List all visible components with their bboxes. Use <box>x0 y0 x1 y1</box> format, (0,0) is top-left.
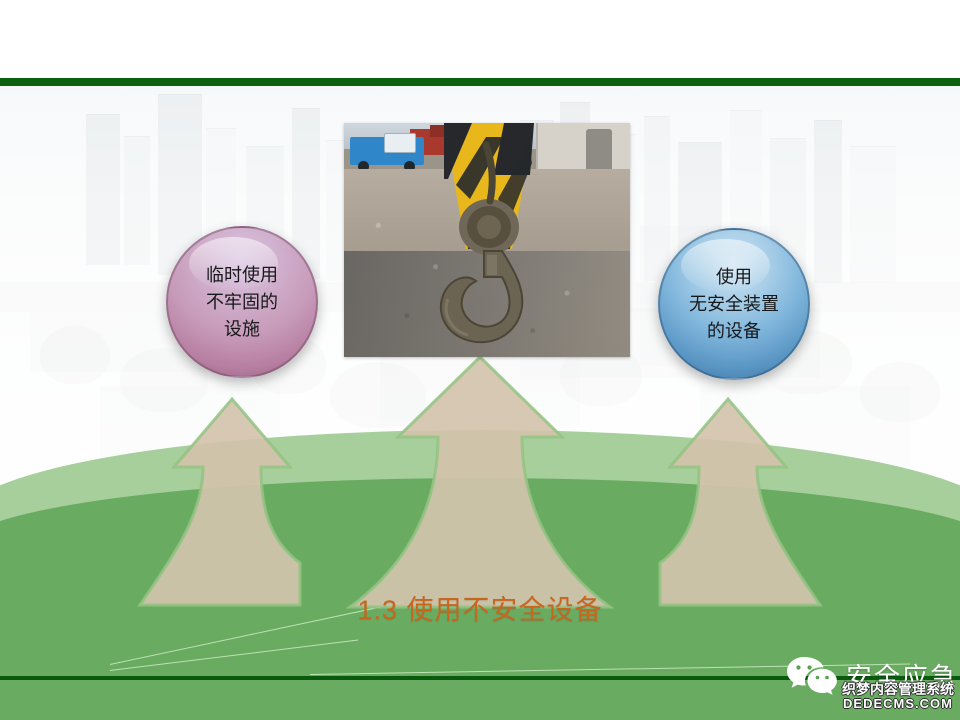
center-arrow <box>350 357 610 607</box>
left-bubble[interactable]: 临时使用 不牢固的 设施 <box>166 226 318 378</box>
left-bubble-line-2: 不牢固的 <box>206 289 278 316</box>
background-building <box>124 136 150 265</box>
top-divider-rule <box>0 78 960 86</box>
page-title: 1.3 使用不安全设备 <box>0 588 960 627</box>
left-bubble-line-3: 设施 <box>224 316 260 343</box>
background-building <box>850 146 896 283</box>
watermark: 织梦内容管理系统 DEDECMS.COM <box>836 682 960 710</box>
right-arrow <box>660 399 820 605</box>
slide-canvas: 临时使用 不牢固的 设施 使用 无安全装置 的设备 1.3 使用不安全设备 <box>0 0 960 720</box>
left-bubble-line-1: 临时使用 <box>206 262 278 289</box>
right-bubble-line-2: 无安全装置 <box>689 291 779 318</box>
right-bubble-line-1: 使用 <box>716 264 752 291</box>
watermark-en: DEDECMS.COM <box>836 697 960 711</box>
right-bubble-line-3: 的设备 <box>707 318 761 345</box>
wechat-icon <box>786 655 838 695</box>
background-building <box>814 120 842 283</box>
photo-crane-boom <box>344 123 630 357</box>
right-bubble[interactable]: 使用 无安全装置 的设备 <box>658 228 810 380</box>
left-arrow <box>140 399 300 605</box>
watermark-cn: 织梦内容管理系统 <box>836 682 960 697</box>
background-building <box>86 114 120 265</box>
crane-hook-photo <box>344 123 630 357</box>
